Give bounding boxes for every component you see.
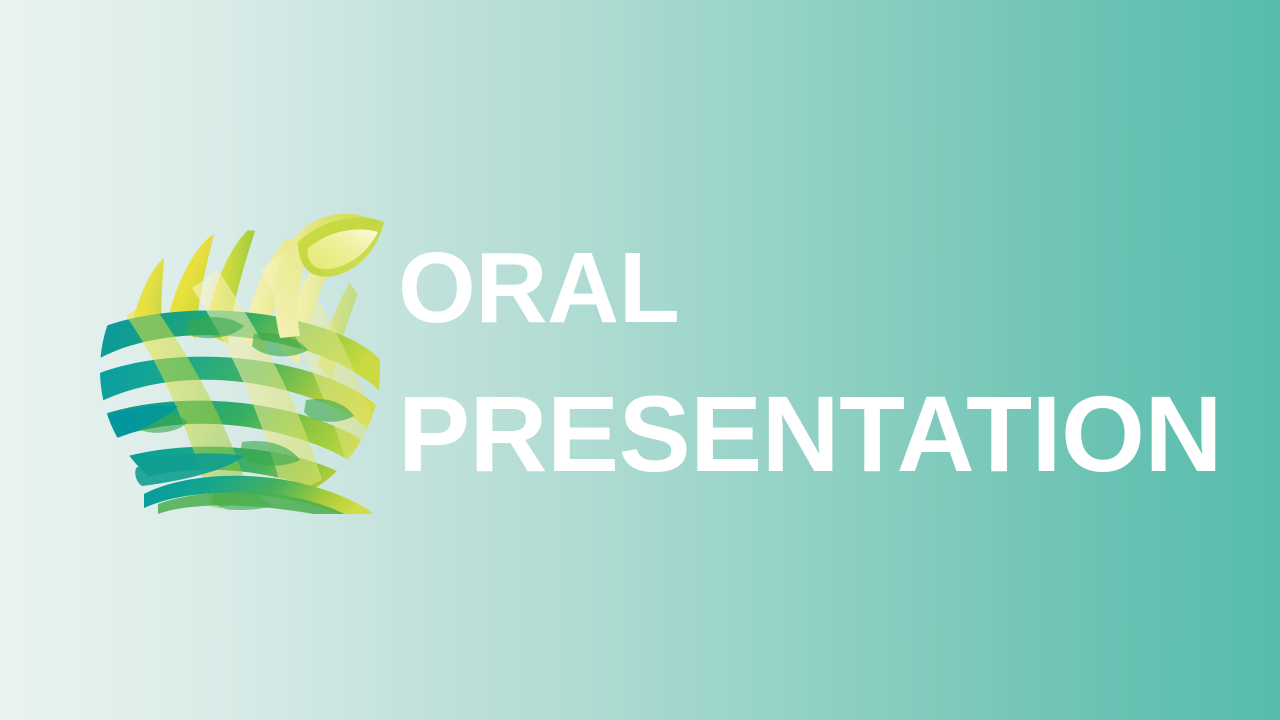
globe-leaf-logo (92, 204, 388, 514)
title-line-presentation: PRESENTATION (398, 380, 1218, 488)
presentation-slide: ORAL PRESENTATION (0, 0, 1280, 720)
title-line-oral: ORAL (398, 238, 1218, 338)
globe-leaf-logo-svg (92, 204, 388, 514)
slide-title: ORAL PRESENTATION (398, 238, 1218, 488)
